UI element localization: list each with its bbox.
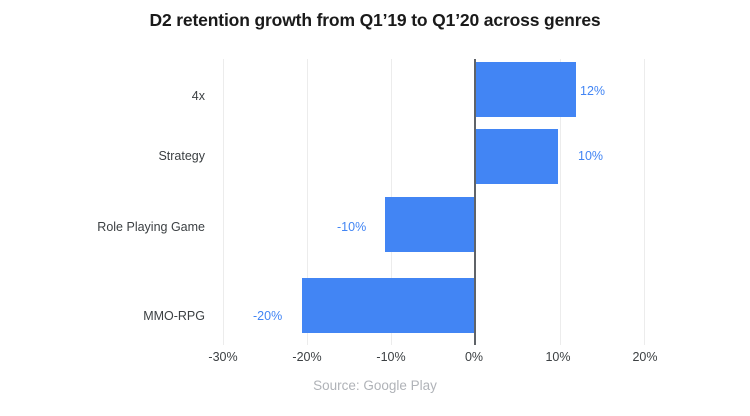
category-label: Role Playing Game — [15, 220, 205, 234]
x-axis-tick-labels: -30% -20% -10% 0% 10% 20% — [0, 350, 750, 370]
value-label-4x: 12% — [580, 84, 605, 98]
x-tick-label: -30% — [188, 350, 258, 364]
bar-strategy — [474, 129, 558, 184]
value-label-role-playing-game: -10% — [337, 220, 366, 234]
zero-axis-line — [474, 59, 476, 345]
value-label-strategy: 10% — [578, 149, 603, 163]
gridline-pos20 — [644, 59, 645, 345]
bar-4x — [474, 62, 576, 117]
x-tick-label: 0% — [439, 350, 509, 364]
value-label-mmo-rpg: -20% — [253, 309, 282, 323]
x-tick-label: -20% — [272, 350, 342, 364]
chart-container: D2 retention growth from Q1’19 to Q1’20 … — [0, 0, 750, 416]
source-caption: Source: Google Play — [0, 378, 750, 393]
gridline-neg30 — [223, 59, 224, 345]
category-label: Strategy — [15, 149, 205, 163]
category-label: 4x — [15, 89, 205, 103]
bar-mmo-rpg — [302, 278, 474, 333]
bar-role-playing-game — [385, 197, 474, 252]
plot-area — [223, 59, 645, 345]
x-tick-label: 10% — [523, 350, 593, 364]
x-tick-label: -10% — [356, 350, 426, 364]
x-tick-label: 20% — [610, 350, 680, 364]
category-label: MMO-RPG — [15, 309, 205, 323]
